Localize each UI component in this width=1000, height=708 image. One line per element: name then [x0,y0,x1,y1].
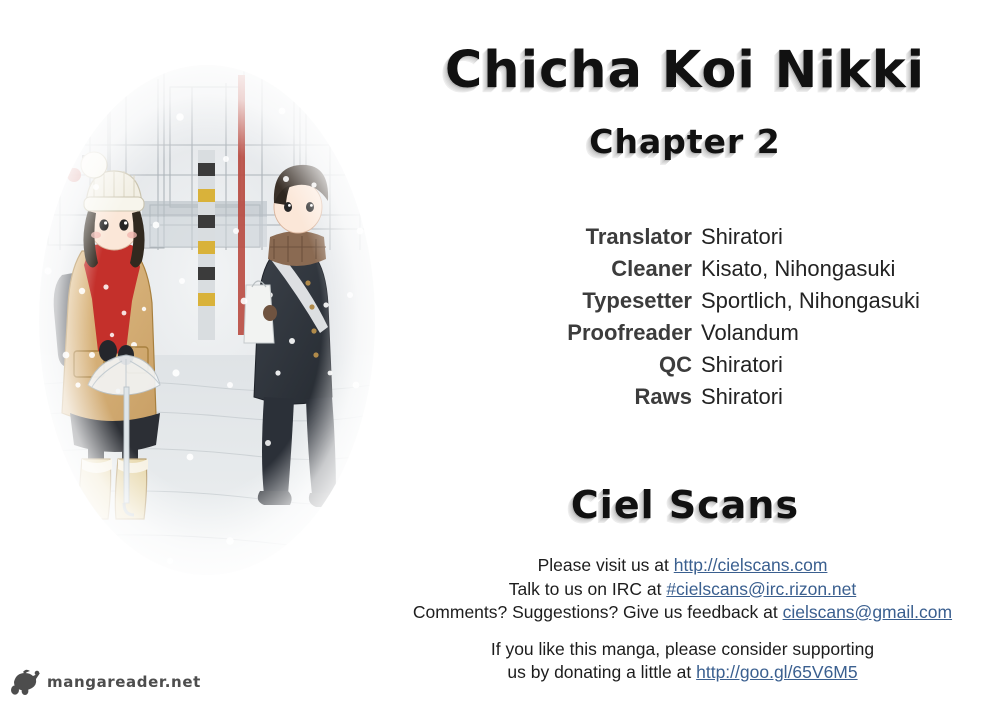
credit-role-label: QC [430,352,701,378]
credit-row: Proofreader Volandum [430,320,990,352]
cielscans-website-link[interactable]: http://cielscans.com [674,555,828,575]
watermark-text: mangareader.net [47,673,201,691]
credit-role-label: Proofreader [430,320,701,346]
credits-list: Translator Shiratori Cleaner Kisato, Nih… [430,224,990,416]
credit-row: Typesetter Sportlich, Nihongasuki [430,288,990,320]
donation-link[interactable]: http://goo.gl/65V6M5 [696,662,858,682]
credit-names-value: Sportlich, Nihongasuki [701,288,920,314]
credit-names-value: Shiratori [701,224,783,250]
credit-names-value: Shiratori [701,352,783,378]
footer-feedback-text: Comments? Suggestions? Give us feedback … [413,602,783,622]
credit-row: QC Shiratori [430,352,990,384]
page-title: Chicha Koi Nikki [395,42,975,100]
mangareader-watermark: mangareader.net [10,668,201,696]
credit-role-label: Raws [430,384,701,410]
bird-icon [10,668,44,696]
footer-irc-text: Talk to us on IRC at [509,579,667,599]
footer-support-text: us by donating a little at [507,662,696,682]
scanlation-credits-page: Chicha Koi Nikki Chapter 2 Translator Sh… [0,0,1000,708]
footer-info: Please visit us at http://cielscans.com … [370,554,995,685]
footer-visit-line: Please visit us at http://cielscans.com [370,554,995,578]
feedback-email-link[interactable]: cielscans@gmail.com [783,602,952,622]
scanlation-group-name: Ciel Scans [395,482,975,528]
credit-names-value: Kisato, Nihongasuki [701,256,895,282]
irc-channel-link[interactable]: #cielscans@irc.rizon.net [666,579,856,599]
credit-row: Raws Shiratori [430,384,990,416]
credit-role-label: Translator [430,224,701,250]
credit-role-label: Typesetter [430,288,701,314]
credit-names-value: Shiratori [701,384,783,410]
footer-feedback-line: Comments? Suggestions? Give us feedback … [370,601,995,625]
chapter-subtitle: Chapter 2 [395,122,975,162]
chapter-illustration [30,55,385,585]
footer-irc-line: Talk to us on IRC at #cielscans@irc.rizo… [370,578,995,602]
footer-spacer [370,625,995,638]
illustration-artwork [30,55,385,585]
vignette-overlay [30,55,385,585]
credit-role-label: Cleaner [430,256,701,282]
footer-support-line1: If you like this manga, please consider … [370,638,995,662]
credit-row: Translator Shiratori [430,224,990,256]
credit-names-value: Volandum [701,320,799,346]
credit-row: Cleaner Kisato, Nihongasuki [430,256,990,288]
footer-support-line2: us by donating a little at http://goo.gl… [370,661,995,685]
footer-visit-text: Please visit us at [538,555,674,575]
